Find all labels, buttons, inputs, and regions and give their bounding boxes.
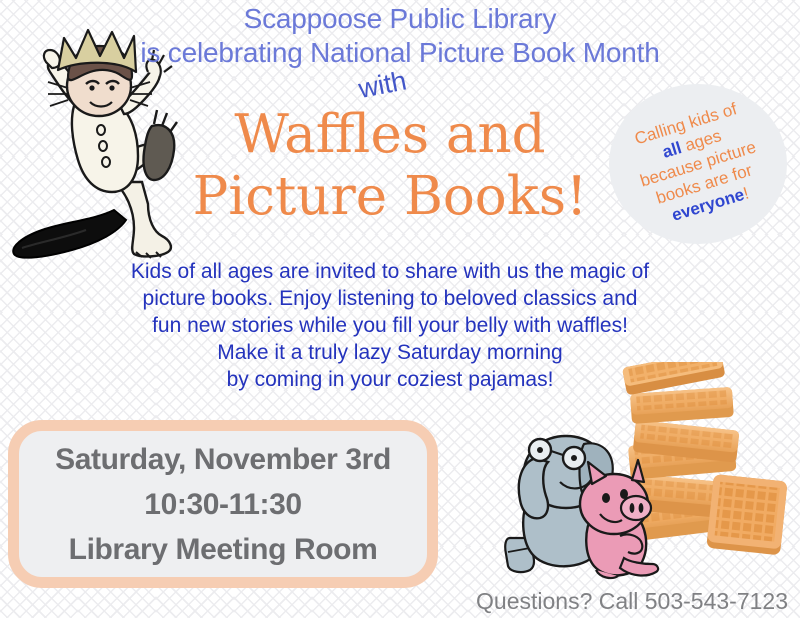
poster-header: Scappoose Public Library is celebrating … xyxy=(0,2,800,70)
title-line-picture-books: Picture Books! xyxy=(150,166,630,228)
body-line-1: Kids of all ages are invited to share wi… xyxy=(40,258,740,285)
calling-kids-badge: Calling kids of all ages because picture… xyxy=(609,84,787,244)
header-connector-with: with xyxy=(356,65,409,105)
event-time: 10:30-11:30 xyxy=(144,482,301,527)
event-location: Library Meeting Room xyxy=(69,527,378,572)
event-poster: Scappoose Public Library is celebrating … xyxy=(0,0,800,618)
header-line-library: Scappoose Public Library xyxy=(0,2,800,36)
event-date: Saturday, November 3rd xyxy=(55,437,391,482)
body-line-2: picture books. Enjoy listening to belove… xyxy=(40,285,740,312)
body-line-5: by coming in your coziest pajamas! xyxy=(40,366,740,393)
poster-title: Waffles and Picture Books! xyxy=(150,104,630,228)
contact-footer: Questions? Call 503-543-7123 xyxy=(438,588,788,615)
title-line-waffles: Waffles and xyxy=(150,104,630,166)
poster-body-text: Kids of all ages are invited to share wi… xyxy=(40,258,740,393)
elephant-and-piggie-illustration xyxy=(500,420,668,597)
body-line-3: fun new stories while you fill your bell… xyxy=(40,312,740,339)
body-line-4: Make it a truly lazy Saturday morning xyxy=(40,339,740,366)
event-details-box: Saturday, November 3rd 10:30-11:30 Libra… xyxy=(8,420,438,588)
